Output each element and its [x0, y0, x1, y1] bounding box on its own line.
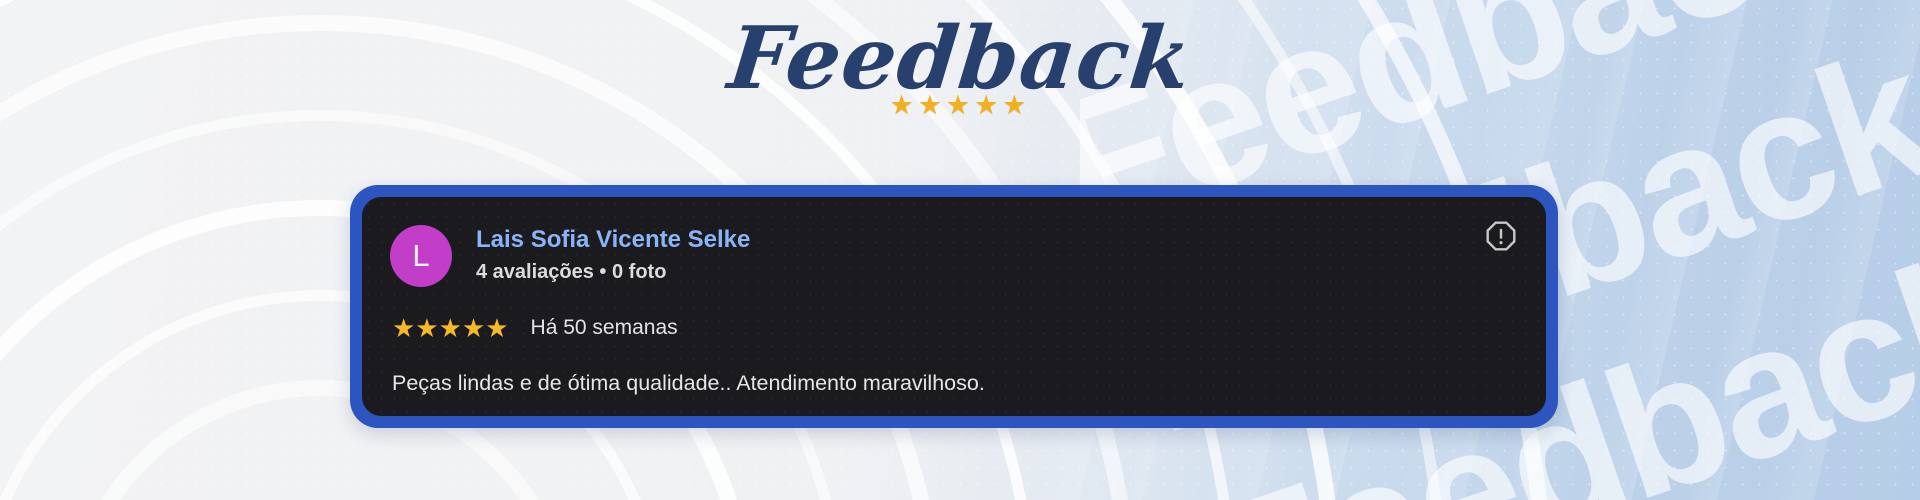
- review-timestamp: Há 50 semanas: [531, 316, 678, 340]
- reviewer-info: Lais Sofia Vicente Selke 4 avaliações • …: [476, 223, 750, 284]
- reviewer-name-link[interactable]: Lais Sofia Vicente Selke: [476, 226, 750, 254]
- banner-title-block: Feedback ★★★★★: [0, 14, 1920, 121]
- review-star-rating: ★★★★★: [392, 315, 509, 341]
- rating-row: ★★★★★ Há 50 semanas: [392, 315, 1516, 341]
- review-text: Peças lindas e de ótima qualidade.. Aten…: [392, 369, 1516, 398]
- page-title: Feedback: [724, 14, 1195, 104]
- reviewer-stats: 4 avaliações • 0 foto: [476, 261, 750, 284]
- review-card-frame: L Lais Sofia Vicente Selke 4 avaliações …: [350, 185, 1558, 428]
- review-card-header: L Lais Sofia Vicente Selke 4 avaliações …: [390, 223, 1516, 287]
- review-card: L Lais Sofia Vicente Selke 4 avaliações …: [362, 197, 1546, 416]
- avatar: L: [390, 225, 452, 287]
- feedback-banner: Feedback Feedback Feedback Feedback ★★★★…: [0, 0, 1920, 500]
- report-octagon-exclamation-icon[interactable]: [1484, 219, 1518, 253]
